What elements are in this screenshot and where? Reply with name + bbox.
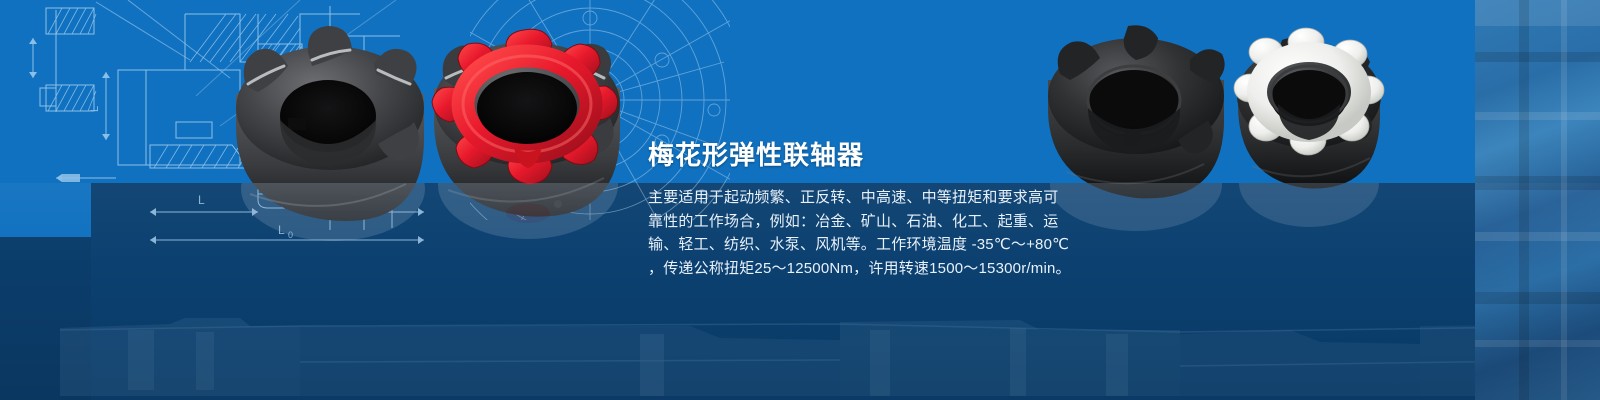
background-machinery-right: [1475, 0, 1600, 400]
product-photo-right-group: [1030, 8, 1392, 208]
background-machinery-photo: [0, 300, 1600, 400]
coupling-hub-with-white-spider: [1234, 28, 1384, 188]
description-line-3: 输、轻工、纺织、水泵、风机等。工作环境温度 -35℃～+80℃: [648, 233, 1068, 257]
svg-text:L: L: [89, 106, 101, 112]
product-banner: L D: [0, 0, 1600, 400]
banner-description: 主要适用于起动频繁、正反转、中高速、中等扭矩和要求高可 靠性的工作场合，例如：冶…: [648, 186, 1068, 280]
page-title: 梅花形弹性联轴器: [648, 138, 1068, 172]
svg-text:L: L: [198, 193, 205, 207]
banner-copy: 梅花形弹性联轴器 主要适用于起动频繁、正反转、中高速、中等扭矩和要求高可 靠性的…: [648, 138, 1068, 280]
product-reflection-left: [228, 183, 628, 273]
product-reflection-right: [1030, 183, 1392, 263]
description-line-2: 靠性的工作场合，例如：冶金、矿山、石油、化工、起重、运: [648, 210, 1068, 234]
description-line-4: ，传递公称扭矩25～12500Nm，许用转速1500～15300r/min。: [648, 257, 1068, 281]
description-line-1: 主要适用于起动频繁、正反转、中高速、中等扭矩和要求高可: [648, 186, 1068, 210]
coupling-hub-black: [1048, 25, 1225, 198]
